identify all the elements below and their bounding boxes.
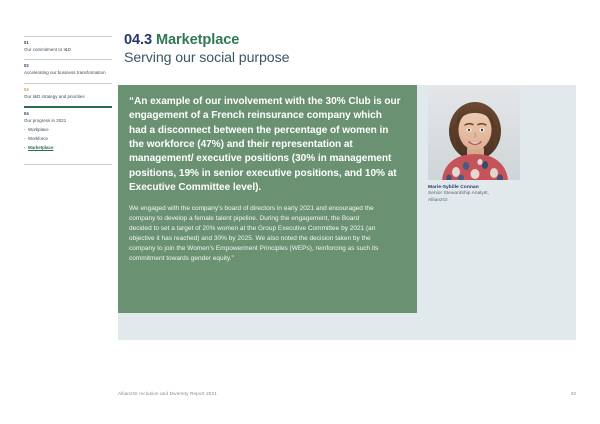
- portrait-illustration: [428, 88, 520, 180]
- page-title: 04.3 Marketplace Serving our social purp…: [124, 32, 289, 67]
- sidebar-subitem-workforce[interactable]: Workforce: [24, 133, 112, 142]
- portrait-photo: [428, 88, 520, 180]
- page-subtitle: Serving our social purpose: [124, 50, 289, 67]
- footer-page-number: 43: [571, 391, 576, 396]
- quote-panel: “An example of our involvement with the …: [118, 85, 417, 313]
- page-title-line1: 04.3 Marketplace: [124, 32, 289, 49]
- attribution-role-line2: AllianzGI: [428, 198, 548, 205]
- sidebar-subitem-workplace[interactable]: Workplace: [24, 124, 112, 133]
- sidebar-item-03[interactable]: 03 Our I&D strategy and priorities: [24, 83, 112, 106]
- attribution: Marie-Sybille Connan Senior Stewardship …: [428, 184, 548, 205]
- sidebar-item-01-number: 01: [24, 40, 112, 45]
- sidebar-item-02-number: 02: [24, 63, 112, 68]
- footer-report-title: AllianzGI Inclusion and Diversity Report…: [118, 391, 217, 396]
- sidebar-item-04[interactable]: 04 Our progress in 2021 Workplace Workfo…: [24, 106, 112, 157]
- sidebar-item-04-number: 04: [24, 111, 112, 116]
- quote-body-text: We engaged with the company’s board of d…: [129, 204, 381, 263]
- sidebar-item-03-label: Our I&D strategy and priorities: [24, 94, 112, 100]
- sidebar-divider: [24, 164, 112, 165]
- sidebar-contents-nav: 01 Our commitment to I&D 02 Accelerating…: [24, 36, 112, 165]
- sidebar-item-03-number: 03: [24, 87, 112, 92]
- quote-text: “An example of our involvement with the …: [129, 95, 401, 195]
- sidebar-item-01-label: Our commitment to I&D: [24, 47, 112, 53]
- sidebar-item-01[interactable]: 01 Our commitment to I&D: [24, 36, 112, 59]
- page-title-number: 04.3: [124, 32, 152, 48]
- page-title-section: Marketplace: [156, 32, 239, 48]
- document-page: 01 Our commitment to I&D 02 Accelerating…: [0, 0, 600, 424]
- sidebar-item-02[interactable]: 02 Accelerating our business transformat…: [24, 59, 112, 82]
- sidebar-subitem-marketplace[interactable]: Marketplace: [24, 142, 112, 151]
- sidebar-item-02-label: Accelerating our business transformation: [24, 70, 112, 76]
